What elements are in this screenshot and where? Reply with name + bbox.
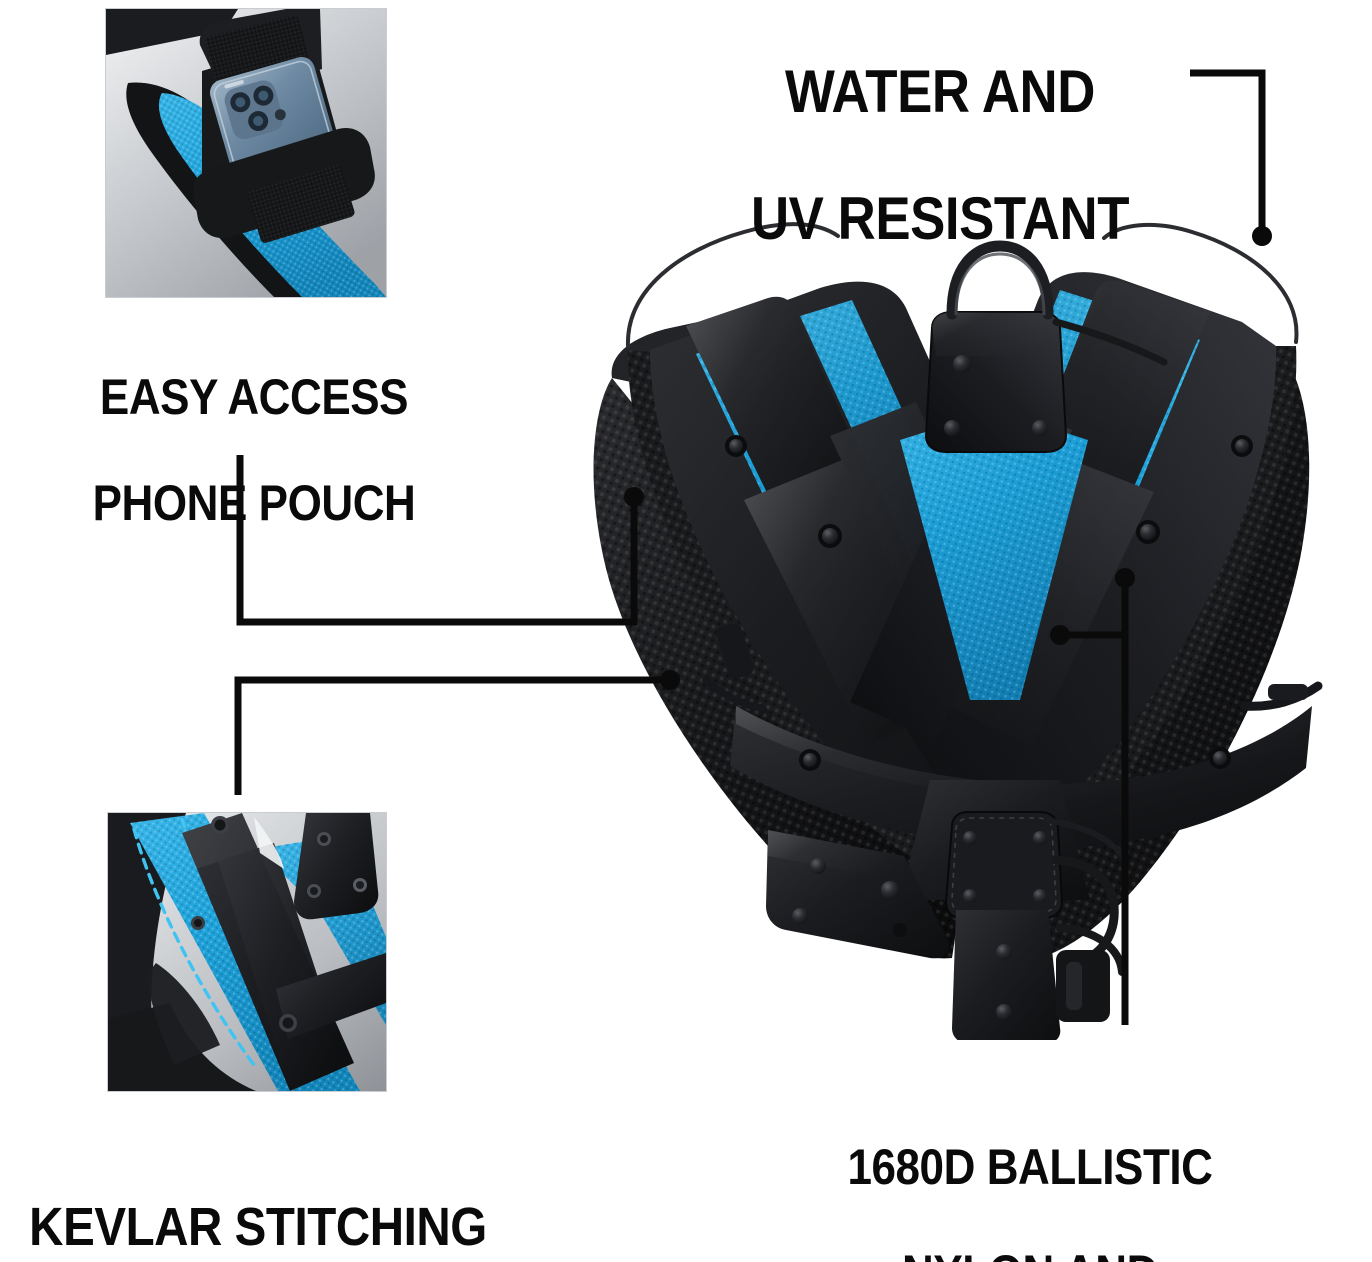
callout-line: WATER AND [658, 60, 1221, 124]
callout-line: UV RESISTANT [658, 187, 1221, 251]
infographic-canvas: WATER AND UV RESISTANT EASY ACCESS PHONE… [0, 0, 1372, 1262]
callout-label-ballistic-nylon: 1680D BALLISTIC NYLON AND TOP-GRAIN LEAT… [740, 1088, 1321, 1262]
callout-line: KEVLAR STITCHING [24, 1199, 492, 1256]
callout-label-kevlar-stitching: KEVLAR STITCHING FOR DURABILITY [24, 1142, 492, 1262]
inset-photo-phone-pouch [105, 8, 387, 298]
callout-label-phone-pouch: EASY ACCESS PHONE POUCH [64, 318, 444, 583]
inset-photo-kevlar-stitching [107, 812, 387, 1092]
callout-line: PHONE POUCH [64, 477, 444, 530]
callout-label-water-uv: WATER AND UV RESISTANT [658, 0, 1221, 314]
callout-line: EASY ACCESS [64, 371, 444, 424]
callout-line: NYLON AND [740, 1247, 1321, 1262]
callout-line: 1680D BALLISTIC [740, 1141, 1321, 1194]
